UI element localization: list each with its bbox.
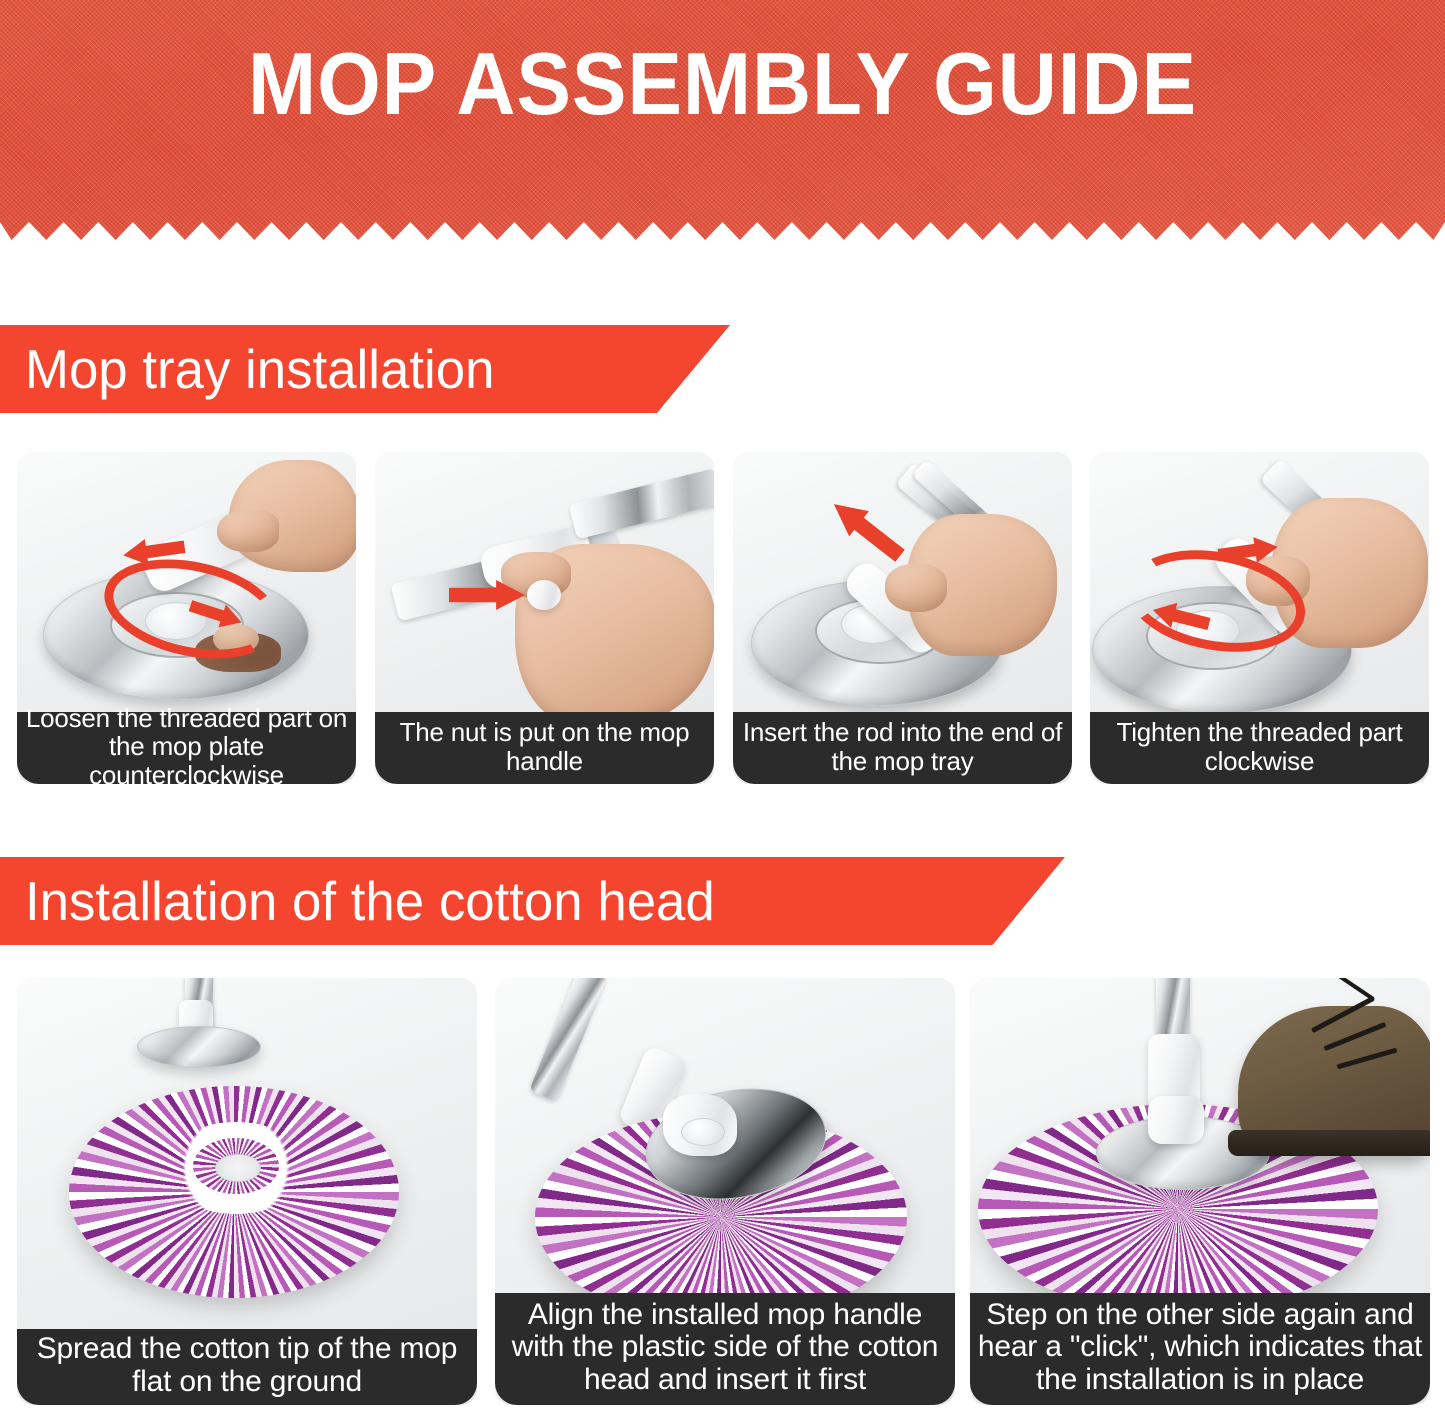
step-caption: Tighten the threaded part clockwise [1090,712,1429,784]
step-panel[interactable]: Step on the other side again and hear a … [970,978,1430,1405]
section-banner-mop-tray-installation: Mop tray installation [0,325,730,413]
step-caption: Insert the rod into the end of the mop t… [733,712,1072,784]
step-panel[interactable]: Align the installed mop handle with the … [495,978,955,1405]
step-panel[interactable]: Spread the cotton tip of the mop flat on… [17,978,477,1405]
page-title: MOP ASSEMBLY GUIDE [51,40,1395,128]
top-banner: MOP ASSEMBLY GUIDE [0,0,1445,240]
section-title: Mop tray installation [0,342,495,397]
step-caption: The nut is put on the mop handle [375,712,714,784]
step-panel[interactable]: Insert the rod into the end of the mop t… [733,452,1072,784]
section-banner-cotton-head-installation: Installation of the cotton head [0,857,1065,945]
step-caption: Spread the cotton tip of the mop flat on… [17,1329,477,1405]
step-panel[interactable]: Tighten the threaded part clockwise [1090,452,1429,784]
step-panel[interactable]: The nut is put on the mop handle [375,452,714,784]
section-title: Installation of the cotton head [0,874,715,929]
step-caption: Step on the other side again and hear a … [970,1293,1430,1405]
step-caption: Align the installed mop handle with the … [495,1293,955,1405]
arrow-down-left-icon [824,492,910,569]
step-panel[interactable]: Loosen the threaded part on the mop plat… [17,452,356,784]
step-caption: Loosen the threaded part on the mop plat… [17,712,356,784]
